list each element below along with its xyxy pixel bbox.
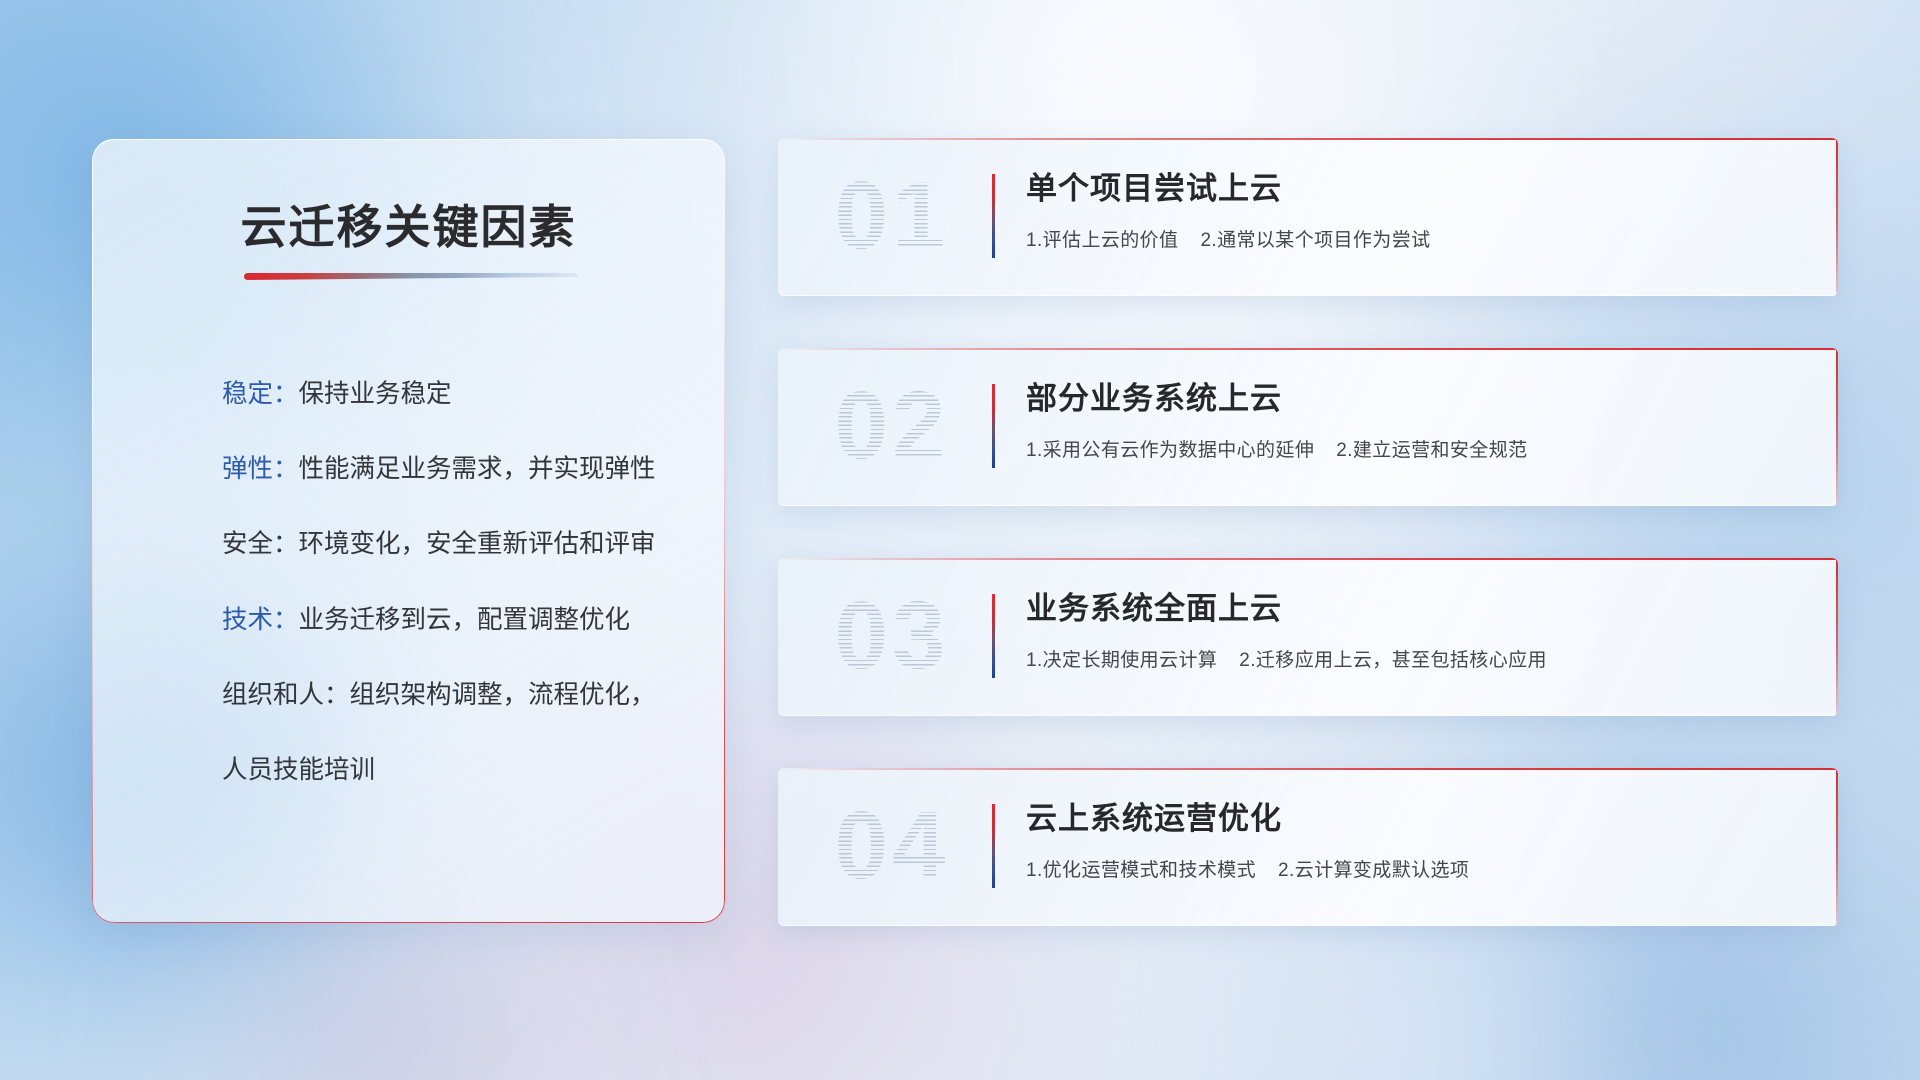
key-factors-panel: 云迁移关键因素 稳定：保持业务稳定 弹性：性能满足业务需求，并实现弹性 安全：环…	[92, 139, 725, 923]
card-vertical-accent-bar	[992, 174, 995, 258]
card-number-watermark: 03	[806, 580, 978, 692]
list-item-value: 保持业务稳定	[299, 380, 452, 408]
list-item-key: 稳定：	[222, 380, 299, 408]
page-title: 云迁移关键因素	[92, 191, 725, 257]
list-item: 稳定：保持业务稳定	[222, 377, 689, 412]
card-description-part-1: 1.采用公有云作为数据中心的延伸	[1026, 440, 1314, 461]
slide-stage: 云迁移关键因素 稳定：保持业务稳定 弹性：性能满足业务需求，并实现弹性 安全：环…	[0, 0, 1920, 1080]
card-description-part-2: 2.云计算变成默认选项	[1278, 860, 1469, 881]
card-number-watermark: 04	[806, 790, 978, 902]
card-top-accent-line	[778, 138, 1838, 140]
card-body: 云上系统运营优化 1.优化运营模式和技术模式2.云计算变成默认选项	[1026, 798, 1808, 882]
card-top-accent-line	[778, 348, 1838, 350]
stage-card-01[interactable]: 01 单个项目尝试上云 1.评估上云的价值2.通常以某个项目作为尝试	[778, 138, 1838, 296]
card-vertical-accent-bar	[992, 384, 995, 468]
list-item: 安全：环境变化，安全重新评估和评审	[222, 527, 689, 562]
list-item-key: 弹性：	[222, 455, 299, 483]
card-title: 部分业务系统上云	[1026, 378, 1808, 420]
card-description: 1.决定长期使用云计算2.迁移应用上云，甚至包括核心应用	[1026, 645, 1808, 672]
list-item-key: 安全：	[222, 530, 299, 558]
card-description-part-2: 2.通常以某个项目作为尝试	[1200, 230, 1430, 251]
card-description-part-2: 2.迁移应用上云，甚至包括核心应用	[1239, 650, 1547, 671]
stage-card-02[interactable]: 02 部分业务系统上云 1.采用公有云作为数据中心的延伸2.建立运营和安全规范	[778, 348, 1838, 506]
list-item-key: 技术：	[222, 606, 299, 634]
card-description: 1.采用公有云作为数据中心的延伸2.建立运营和安全规范	[1026, 435, 1808, 462]
stage-card-03[interactable]: 03 业务系统全面上云 1.决定长期使用云计算2.迁移应用上云，甚至包括核心应用	[778, 558, 1838, 716]
card-description: 1.评估上云的价值2.通常以某个项目作为尝试	[1026, 225, 1808, 252]
card-vertical-accent-bar	[992, 594, 995, 678]
card-title: 云上系统运营优化	[1026, 798, 1808, 840]
card-top-accent-line	[778, 558, 1838, 560]
stage-card-04[interactable]: 04 云上系统运营优化 1.优化运营模式和技术模式2.云计算变成默认选项	[778, 768, 1838, 926]
list-item: 技术：业务迁移到云，配置调整优化	[222, 603, 689, 638]
card-description-part-1: 1.评估上云的价值	[1026, 230, 1178, 251]
card-right-accent-line	[1836, 138, 1838, 296]
card-body: 部分业务系统上云 1.采用公有云作为数据中心的延伸2.建立运营和安全规范	[1026, 378, 1808, 462]
card-description-part-2: 2.建立运营和安全规范	[1336, 440, 1527, 461]
list-item-value: 业务迁移到云，配置调整优化	[299, 606, 631, 634]
card-description-part-1: 1.决定长期使用云计算	[1026, 650, 1217, 671]
list-item-value: 性能满足业务需求，并实现弹性	[299, 455, 656, 483]
card-right-accent-line	[1836, 558, 1838, 716]
list-item-value: 人员技能培训	[222, 756, 375, 784]
list-item-value: 组织架构调整，流程优化，	[350, 681, 656, 709]
list-item-key: 组织和人：	[222, 681, 350, 709]
card-right-accent-line	[1836, 768, 1838, 926]
card-vertical-accent-bar	[992, 804, 995, 888]
card-right-accent-line	[1836, 348, 1838, 506]
list-item-continuation: 人员技能培训	[222, 753, 689, 788]
card-number-watermark: 01	[806, 160, 978, 272]
card-title: 业务系统全面上云	[1026, 588, 1808, 630]
list-item: 弹性：性能满足业务需求，并实现弹性	[222, 452, 689, 487]
card-body: 业务系统全面上云 1.决定长期使用云计算2.迁移应用上云，甚至包括核心应用	[1026, 588, 1808, 672]
card-body: 单个项目尝试上云 1.评估上云的价值2.通常以某个项目作为尝试	[1026, 168, 1808, 252]
card-title: 单个项目尝试上云	[1026, 168, 1808, 210]
title-underline-rule	[244, 273, 578, 280]
card-description-part-1: 1.优化运营模式和技术模式	[1026, 860, 1256, 881]
migration-stage-cards: 01 单个项目尝试上云 1.评估上云的价值2.通常以某个项目作为尝试 02 部分…	[778, 138, 1838, 926]
card-top-accent-line	[778, 768, 1838, 770]
key-factors-list: 稳定：保持业务稳定 弹性：性能满足业务需求，并实现弹性 安全：环境变化，安全重新…	[222, 377, 689, 788]
card-description: 1.优化运营模式和技术模式2.云计算变成默认选项	[1026, 855, 1808, 882]
list-item: 组织和人：组织架构调整，流程优化，	[222, 678, 689, 713]
card-number-watermark: 02	[806, 370, 978, 482]
list-item-value: 环境变化，安全重新评估和评审	[299, 530, 656, 558]
